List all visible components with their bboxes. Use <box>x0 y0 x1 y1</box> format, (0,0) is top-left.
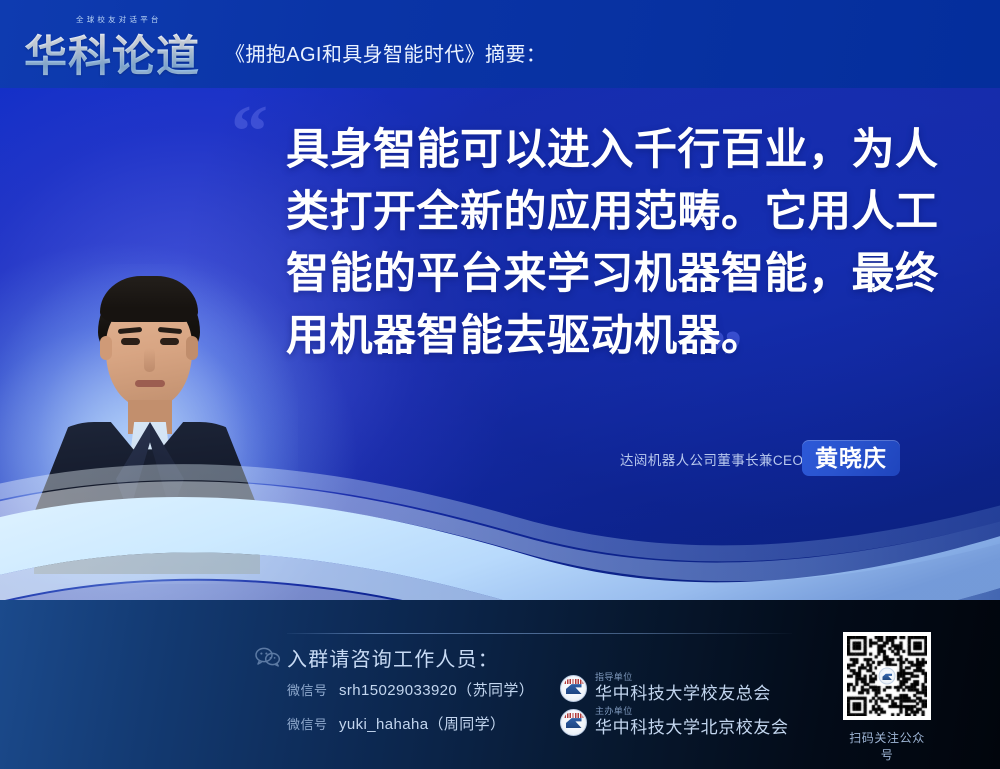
organization-row-host: 主办单位 华中科技大学北京校友会 <box>560 706 789 738</box>
university-emblem-icon <box>560 675 587 702</box>
organization-kind-1: 指导单位 <box>595 672 771 683</box>
organization-row-guidance: 指导单位 华中科技大学校友总会 <box>560 672 771 704</box>
poster-root: “ 具身智能可以进入千行百业，为人类打开全新的应用范畴。它用人工智能的平台来学习… <box>0 0 1000 769</box>
qr-code-image[interactable] <box>843 632 931 720</box>
page-title: 《拥抱AGI和具身智能时代》摘要： <box>225 38 546 67</box>
portrait-ear-left <box>100 336 112 360</box>
wechat-icon <box>255 647 281 672</box>
join-group-title: 入群请咨询工作人员： <box>287 643 499 672</box>
brand-logo[interactable]: 全球校友对话平台 华科论道 <box>24 14 214 76</box>
contact-row-2: 微信号 yuki_hahaha（周同学） <box>287 713 505 734</box>
portrait-ear-right <box>186 336 198 360</box>
quote-open-mark: “ <box>231 95 268 169</box>
contact-value-2: yuki_hahaha（周同学） <box>339 716 505 733</box>
organization-name-1: 华中科技大学校友总会 <box>595 683 771 704</box>
contact-label-1: 微信号 <box>287 683 328 698</box>
footer-divider <box>287 633 792 634</box>
header-bar: 全球校友对话平台 华科论道 《拥抱AGI和具身智能时代》摘要： <box>0 0 1000 88</box>
qr-section: 扫码关注公众号 <box>843 632 931 763</box>
qr-center-logo-icon <box>879 668 896 685</box>
qr-caption: 扫码关注公众号 <box>843 729 931 763</box>
organization-text-2: 主办单位 华中科技大学北京校友会 <box>595 706 789 738</box>
organization-kind-2: 主办单位 <box>595 706 789 717</box>
logo-wordmark: 华科论道 <box>24 22 200 84</box>
portrait-nose <box>144 348 155 372</box>
portrait-eye-right <box>160 338 179 345</box>
contact-row-1: 微信号 srh15029033920（苏同学） <box>287 679 534 700</box>
contact-value-1: srh15029033920（苏同学） <box>339 682 534 699</box>
organization-name-2: 华中科技大学北京校友会 <box>595 717 789 738</box>
quote-text: 具身智能可以进入千行百业，为人类打开全新的应用范畴。它用人工智能的平台来学习机器… <box>286 119 946 367</box>
contact-label-2: 微信号 <box>287 717 328 732</box>
portrait-eye-left <box>121 338 140 345</box>
organization-text-1: 指导单位 华中科技大学校友总会 <box>595 672 771 704</box>
university-emblem-icon <box>560 709 587 736</box>
portrait-mouth <box>135 380 165 387</box>
